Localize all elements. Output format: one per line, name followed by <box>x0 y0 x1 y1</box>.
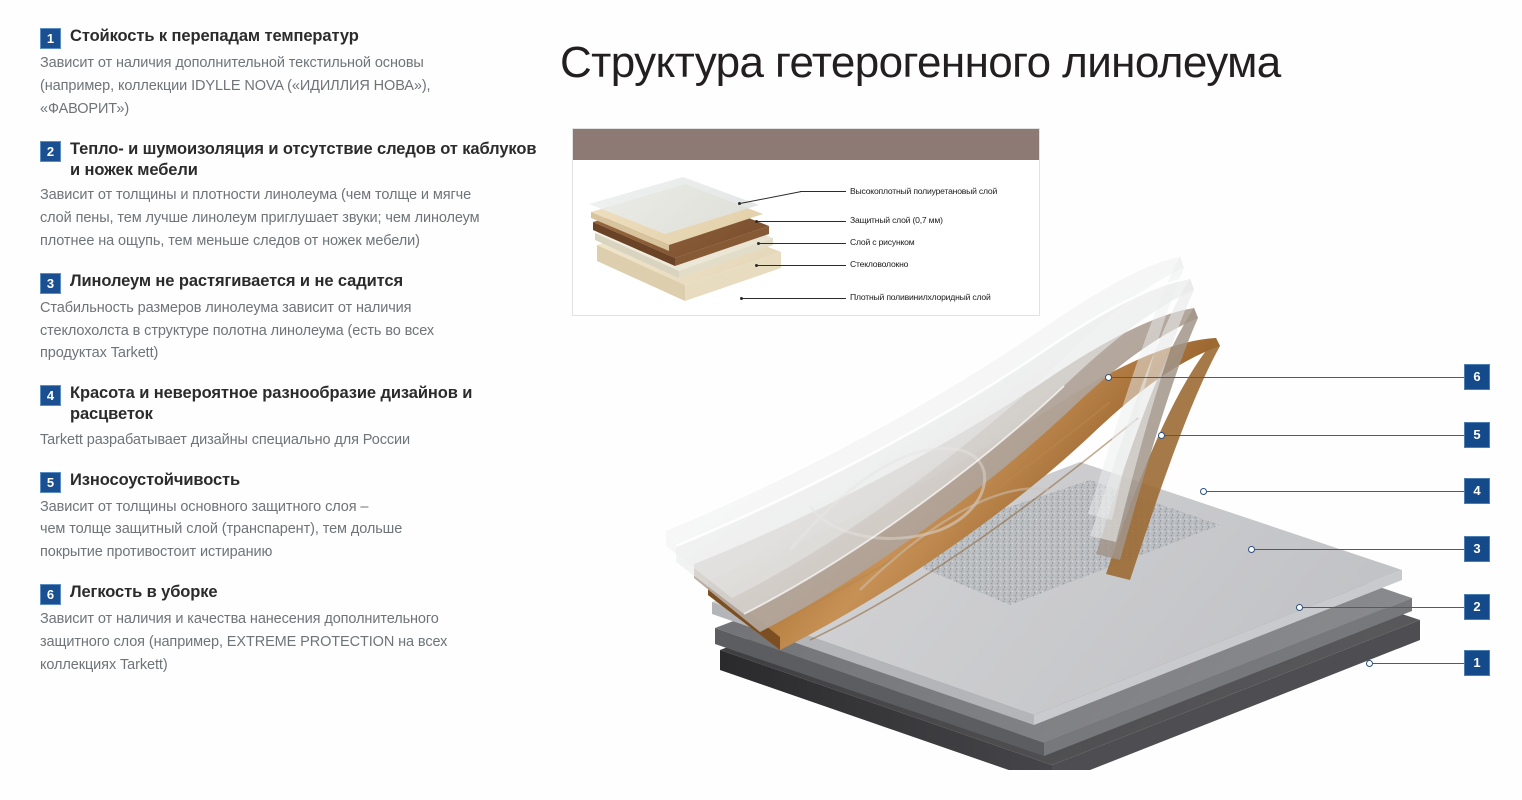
feature-description-line: чем толще защитный слой (транспарент), т… <box>40 518 540 541</box>
feature-description: Зависит от наличия дополнительной тексти… <box>40 52 540 121</box>
callout-leader-5 <box>1165 435 1464 436</box>
feature-description-line: коллекциях Tarkett) <box>40 654 540 677</box>
callout-dot-6 <box>1105 374 1112 381</box>
feature-header: 6 Легкость в уборке <box>40 582 540 605</box>
feature-description-line: Зависит от наличия и качества нанесения … <box>40 608 540 631</box>
feature-title: Легкость в уборке <box>70 582 218 603</box>
feature-title: Линолеум не растягивается и не садится <box>70 271 403 292</box>
feature-item-6: 6 Легкость в уборке Зависит от наличия и… <box>40 582 540 677</box>
callout-dot-1 <box>1366 660 1373 667</box>
feature-description: Стабильность размеров линолеума зависит … <box>40 297 540 366</box>
infographic-page: 1 Стойкость к перепадам температур Завис… <box>0 0 1522 800</box>
callout-leader-2 <box>1303 607 1464 608</box>
callout-marker-5[interactable]: 5 <box>1464 422 1490 448</box>
feature-description: Зависит от наличия и качества нанесения … <box>40 608 540 677</box>
feature-item-1: 1 Стойкость к перепадам температур Завис… <box>40 26 540 121</box>
feature-description-line: Зависит от толщины и плотности линолеума… <box>40 184 540 207</box>
feature-description-line: покрытие противостоит истиранию <box>40 541 540 564</box>
feature-header: 1 Стойкость к перепадам температур <box>40 26 540 49</box>
feature-title: Износоустойчивость <box>70 470 240 491</box>
feature-description: Tarkett разрабатывает дизайны специально… <box>40 429 540 452</box>
callout-marker-4[interactable]: 4 <box>1464 478 1490 504</box>
main-layer-illustration <box>660 150 1480 770</box>
feature-number-badge: 2 <box>40 141 61 162</box>
callout-marker-1[interactable]: 1 <box>1464 650 1490 676</box>
feature-header: 4 Красота и невероятное разнообразие диз… <box>40 383 540 425</box>
feature-number-badge: 5 <box>40 472 61 493</box>
feature-header: 2 Тепло- и шумоизоляция и отсутствие сле… <box>40 139 540 181</box>
feature-description: Зависит от толщины основного защитного с… <box>40 496 540 565</box>
feature-number-badge: 1 <box>40 28 61 49</box>
feature-description-line: продуктах Tarkett) <box>40 342 540 365</box>
feature-item-2: 2 Тепло- и шумоизоляция и отсутствие сле… <box>40 139 540 253</box>
callout-dot-3 <box>1248 546 1255 553</box>
feature-title: Тепло- и шумоизоляция и отсутствие следо… <box>70 139 540 181</box>
main-stack-svg <box>660 150 1480 770</box>
callout-leader-4 <box>1207 491 1464 492</box>
feature-description-line: защитного слоя (например, EXTREME PROTEC… <box>40 631 540 654</box>
feature-list: 1 Стойкость к перепадам температур Завис… <box>40 26 540 695</box>
callout-leader-6 <box>1112 377 1464 378</box>
feature-number-badge: 3 <box>40 273 61 294</box>
feature-description-line: «ФАВОРИТ») <box>40 98 540 121</box>
feature-description-line: стеклохолста в структуре полотна линолеу… <box>40 320 540 343</box>
feature-description: Зависит от толщины и плотности линолеума… <box>40 184 540 253</box>
callout-marker-2[interactable]: 2 <box>1464 594 1490 620</box>
callout-dot-2 <box>1296 604 1303 611</box>
feature-number-badge: 6 <box>40 584 61 605</box>
callout-dot-4 <box>1200 488 1207 495</box>
feature-header: 5 Износоустойчивость <box>40 470 540 493</box>
callout-dot-5 <box>1158 432 1165 439</box>
feature-item-5: 5 Износоустойчивость Зависит от толщины … <box>40 470 540 565</box>
feature-item-4: 4 Красота и невероятное разнообразие диз… <box>40 383 540 451</box>
feature-number-badge: 4 <box>40 385 61 406</box>
feature-description-line: Стабильность размеров линолеума зависит … <box>40 297 540 320</box>
feature-description-line: слой пены, тем лучше линолеум приглушает… <box>40 207 540 230</box>
callout-leader-3 <box>1255 549 1464 550</box>
feature-description-line: (например, коллекции IDYLLE NOVA («ИДИЛЛ… <box>40 75 540 98</box>
feature-title: Красота и невероятное разнообразие дизай… <box>70 383 540 425</box>
callout-marker-3[interactable]: 3 <box>1464 536 1490 562</box>
callout-leader-1 <box>1373 663 1464 664</box>
feature-description-line: Зависит от наличия дополнительной тексти… <box>40 52 540 75</box>
callout-marker-6[interactable]: 6 <box>1464 364 1490 390</box>
feature-item-3: 3 Линолеум не растягивается и не садится… <box>40 271 540 366</box>
feature-description-line: Tarkett разрабатывает дизайны специально… <box>40 429 540 452</box>
page-title: Структура гетерогенного линолеума <box>560 38 1520 88</box>
feature-description-line: Зависит от толщины основного защитного с… <box>40 496 540 519</box>
feature-description-line: плотнее на ощупь, тем меньше следов от н… <box>40 230 540 253</box>
feature-title: Стойкость к перепадам температур <box>70 26 359 47</box>
feature-header: 3 Линолеум не растягивается и не садится <box>40 271 540 294</box>
